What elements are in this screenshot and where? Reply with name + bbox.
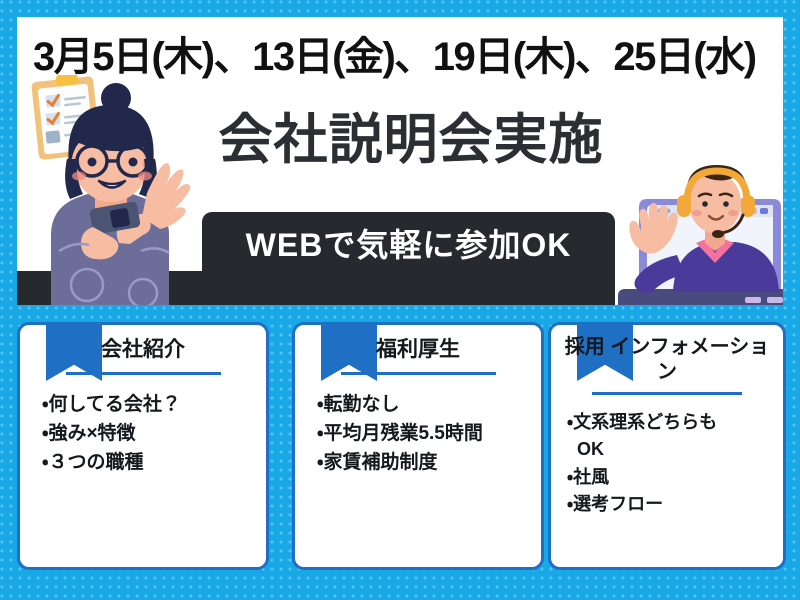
woman-with-smartphone-illustration — [23, 75, 203, 305]
web-participation-banner: WEBで気軽に参加OK — [202, 212, 615, 305]
info-cards: 会社紹介 ・何してる会社？ ・強み×特徴 ・３つの職種 福利厚生 ・転勤なし ・… — [0, 322, 800, 577]
list-item: ・家賃補助制度 — [317, 449, 541, 478]
card-benefits[interactable]: 福利厚生 ・転勤なし ・平均月残業5.5時間 ・家賃補助制度 — [292, 322, 544, 570]
list-item: ・３つの職種 — [42, 449, 266, 478]
card-title: 福利厚生 — [305, 337, 531, 363]
event-dates: 3月5日(木)、13日(金)、19日(木)、25日(水) — [33, 37, 773, 77]
card-divider — [592, 392, 742, 395]
list-item: ・文系理系どちらも OK — [567, 409, 783, 464]
card-recruitment-info[interactable]: 採用 インフォメーション ・文系理系どちらも OK ・社風 ・選考フロー — [548, 322, 786, 570]
poster-root: 3月5日(木)、13日(金)、19日(木)、25日(水) 会社説明会実施 WEB… — [0, 0, 800, 600]
card-title: 採用 インフォメーション — [561, 335, 773, 385]
card-divider — [66, 372, 221, 375]
laptop-man-illustration-svg — [617, 147, 783, 305]
list-item: ・転勤なし — [317, 391, 541, 420]
man-with-headset-illustration — [617, 147, 783, 305]
header-panel: 3月5日(木)、13日(金)、19日(木)、25日(水) 会社説明会実施 WEB… — [17, 17, 783, 305]
list-item: ・選考フロー — [567, 491, 783, 518]
card-item-list: ・何してる会社？ ・強み×特徴 ・３つの職種 — [42, 391, 266, 478]
card-item-list: ・転勤なし ・平均月残業5.5時間 ・家賃補助制度 — [317, 391, 541, 478]
card-title: 会社紹介 — [30, 337, 256, 363]
woman-illustration-svg — [23, 75, 203, 305]
web-participation-label: WEBで気軽に参加OK — [202, 226, 615, 264]
list-item: ・社風 — [567, 464, 783, 491]
card-divider — [341, 372, 496, 375]
list-item: ・何してる会社？ — [42, 391, 266, 420]
card-item-list: ・文系理系どちらも OK ・社風 ・選考フロー — [567, 409, 783, 518]
card-company-intro[interactable]: 会社紹介 ・何してる会社？ ・強み×特徴 ・３つの職種 — [17, 322, 269, 570]
list-item: ・平均月残業5.5時間 — [317, 420, 541, 449]
list-item: ・強み×特徴 — [42, 420, 266, 449]
